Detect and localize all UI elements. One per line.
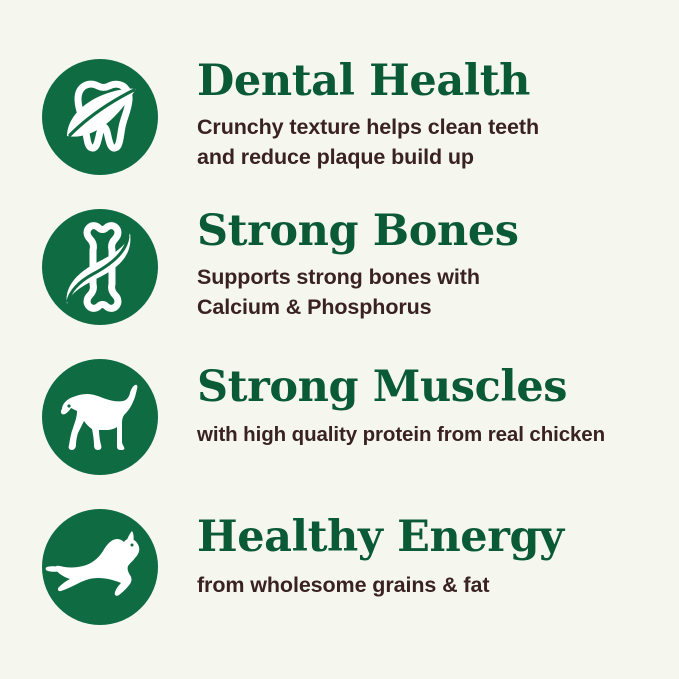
- benefit-subtitle: from wholesome grains & fat: [197, 562, 667, 600]
- standing-dog-icon: [42, 359, 158, 475]
- benefit-text-block: Healthy Energy from wholesome grains & f…: [197, 492, 667, 600]
- benefit-subtitle: Supports strong bones with Calcium & Pho…: [197, 256, 667, 322]
- benefit-text-block: Dental Health Crunchy texture helps clea…: [197, 42, 667, 172]
- benefit-row: Healthy Energy from wholesome grains & f…: [0, 492, 679, 642]
- benefit-subtitle-line: from wholesome grains & fat: [197, 570, 667, 600]
- benefit-subtitle: with high quality protein from real chic…: [197, 412, 667, 450]
- tooth-leaf-icon: [42, 59, 158, 175]
- benefits-infographic: Dental Health Crunchy texture helps clea…: [0, 0, 679, 679]
- benefit-title: Strong Bones: [197, 192, 667, 256]
- benefit-title: Dental Health: [197, 42, 667, 106]
- benefit-subtitle-line: Crunchy texture helps clean teeth: [197, 112, 667, 142]
- benefit-title: Strong Muscles: [197, 342, 667, 412]
- benefit-subtitle-line: and reduce plaque build up: [197, 142, 667, 172]
- bone-leaf-icon: [42, 209, 158, 325]
- benefit-text-block: Strong Bones Supports strong bones with …: [197, 192, 667, 322]
- benefit-subtitle-line: with high quality protein from real chic…: [197, 420, 667, 450]
- benefit-title: Healthy Energy: [197, 492, 667, 562]
- leaping-dog-icon: [42, 509, 158, 625]
- benefit-subtitle-line: Calcium & Phosphorus: [197, 292, 667, 322]
- benefit-row: Strong Bones Supports strong bones with …: [0, 192, 679, 342]
- benefit-subtitle-line: Supports strong bones with: [197, 262, 667, 292]
- benefit-row: Strong Muscles with high quality protein…: [0, 342, 679, 492]
- benefit-subtitle: Crunchy texture helps clean teeth and re…: [197, 106, 667, 172]
- benefit-text-block: Strong Muscles with high quality protein…: [197, 342, 667, 450]
- benefit-row: Dental Health Crunchy texture helps clea…: [0, 42, 679, 192]
